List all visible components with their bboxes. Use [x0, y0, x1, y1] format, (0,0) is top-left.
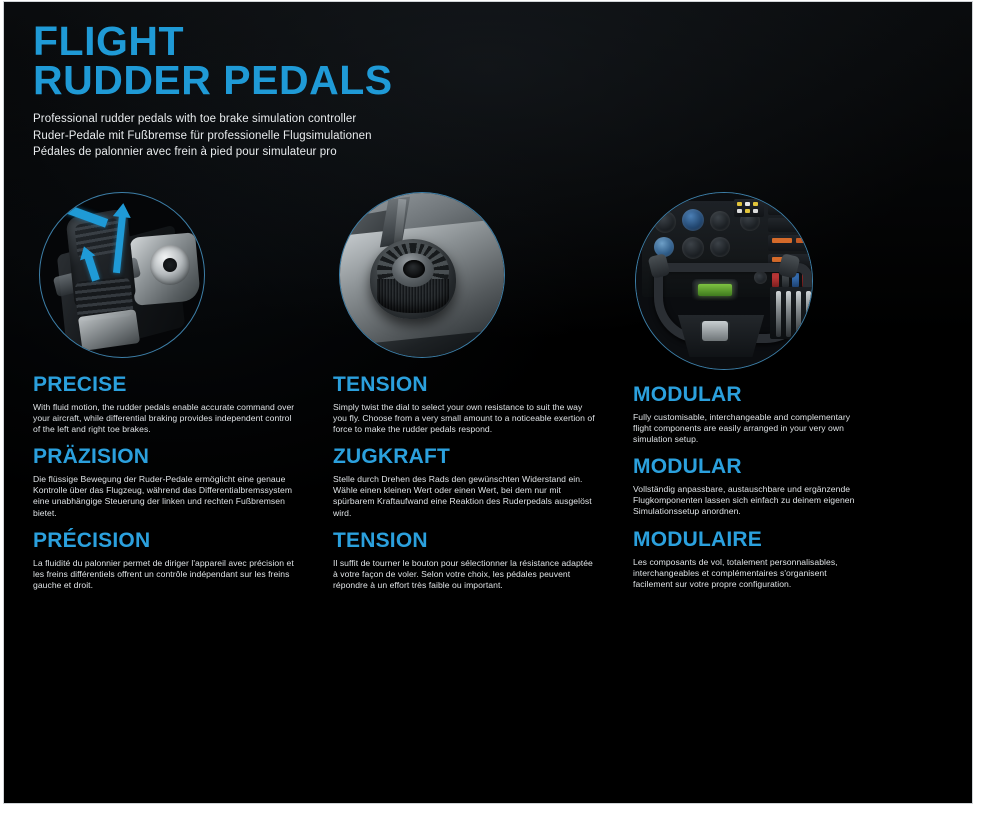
poster-black-panel: FLIGHT RUDDER PEDALS Professional rudder…	[4, 2, 972, 803]
tension-block-fr: TENSION Il suffit de tourner le bouton p…	[333, 530, 633, 591]
tension-body-en: Simply twist the dial to select your own…	[333, 402, 595, 435]
modular-body-en: Fully customisable, interchangeable and …	[633, 412, 867, 445]
tension-heading-de: ZUGKRAFT	[333, 446, 633, 468]
precise-heading-en: PRECISE	[33, 374, 333, 396]
precise-body-de: Die flüssige Bewegung der Ruder-Pedale e…	[33, 474, 295, 518]
product-feature-poster: FLIGHT RUDDER PEDALS Professional rudder…	[0, 0, 1000, 820]
precise-block-de: PRÄZISION Die flüssige Bewegung der Rude…	[33, 446, 333, 518]
modular-heading-en: MODULAR	[633, 384, 933, 406]
pedal-foot-rest-shape	[78, 309, 140, 351]
throttle-lever-4	[806, 291, 811, 337]
gauge-horizon-icon	[682, 209, 704, 231]
throttle-lever-1	[776, 291, 781, 337]
throttle-lever-3	[796, 291, 801, 337]
modular-heading-de: MODULAR	[633, 456, 933, 478]
tension-block-en: TENSION Simply twist the dial to select …	[333, 374, 633, 435]
feature-column-precise: PRECISE With fluid motion, the rudder pe…	[33, 192, 333, 596]
precise-heading-fr: PRÉCISION	[33, 530, 333, 552]
indicator-led-a-icon	[737, 209, 742, 213]
status-led-icon	[745, 202, 750, 206]
modular-block-de: MODULAR Vollständig anpassbare, austausc…	[633, 456, 933, 517]
warning-led-icon	[737, 202, 742, 206]
cockpit-yoke-panel-photo	[635, 192, 813, 370]
precise-text-blocks: PRECISE With fluid motion, the rudder pe…	[33, 374, 333, 591]
feature-columns: PRECISE With fluid motion, the rudder pe…	[4, 2, 972, 803]
precise-block-fr: PRÉCISION La fluidité du palonnier perme…	[33, 530, 333, 591]
tension-body-de: Stelle durch Drehen des Rads den gewünsc…	[333, 474, 595, 518]
modular-heading-fr: MODULAIRE	[633, 529, 933, 551]
throttle-lever-2	[786, 291, 791, 337]
indicator-led-b-icon	[745, 209, 750, 213]
yoke-desk-clamp	[702, 321, 728, 341]
tension-heading-en: TENSION	[333, 374, 633, 396]
modular-body-de: Vollständig anpassbare, austauschbare un…	[633, 484, 867, 517]
tension-adjustment-dial-photo	[339, 192, 505, 358]
tension-block-de: ZUGKRAFT Stelle durch Drehen des Rads de…	[333, 446, 633, 518]
gauge-airspeed-icon	[710, 237, 730, 257]
indicator-led-c-icon	[753, 209, 758, 213]
tension-body-fr: Il suffit de tourner le bouton pour séle…	[333, 558, 595, 591]
pedal-artwork	[40, 193, 204, 357]
radio-stack-unit-1	[768, 201, 812, 215]
modular-image-wrap	[635, 192, 825, 368]
tension-dial-knob	[370, 239, 456, 319]
gauge-attitude-icon	[654, 211, 676, 233]
gauge-vsi-icon	[682, 237, 704, 259]
modular-block-en: MODULAR Fully customisable, interchangea…	[633, 384, 933, 445]
radio-stack-unit-2	[768, 218, 812, 232]
rudder-pedal-motion-photo	[39, 192, 205, 358]
modular-block-fr: MODULAIRE Les composants de vol, totalem…	[633, 529, 933, 590]
feature-column-modular: MODULAR Fully customisable, interchangea…	[633, 192, 933, 595]
precise-body-en: With fluid motion, the rudder pedals ena…	[33, 402, 295, 435]
modular-text-blocks: MODULAR Fully customisable, interchangea…	[633, 384, 933, 590]
gauge-heading-icon	[710, 211, 730, 231]
tension-image-wrap	[339, 192, 505, 358]
modular-body-fr: Les composants de vol, totalement person…	[633, 557, 867, 590]
radio-standby-led-icon	[796, 238, 806, 243]
radio-display-led-1-icon	[772, 238, 792, 243]
feature-column-tension: TENSION Simply twist the dial to select …	[333, 192, 633, 596]
pedal-hub-icon	[150, 245, 190, 285]
tension-heading-fr: TENSION	[333, 530, 633, 552]
precise-body-fr: La fluidité du palonnier permet de dirig…	[33, 558, 295, 591]
precise-block-en: PRECISE With fluid motion, the rudder pe…	[33, 374, 333, 435]
dial-artwork	[340, 193, 504, 357]
precise-heading-de: PRÄZISION	[33, 446, 333, 468]
cockpit-artwork	[636, 193, 812, 369]
yoke-display-screen	[698, 284, 732, 296]
tension-text-blocks: TENSION Simply twist the dial to select …	[333, 374, 633, 591]
precise-image-wrap	[39, 192, 205, 358]
caution-led-icon	[753, 202, 758, 206]
dial-center-hole	[403, 260, 425, 278]
